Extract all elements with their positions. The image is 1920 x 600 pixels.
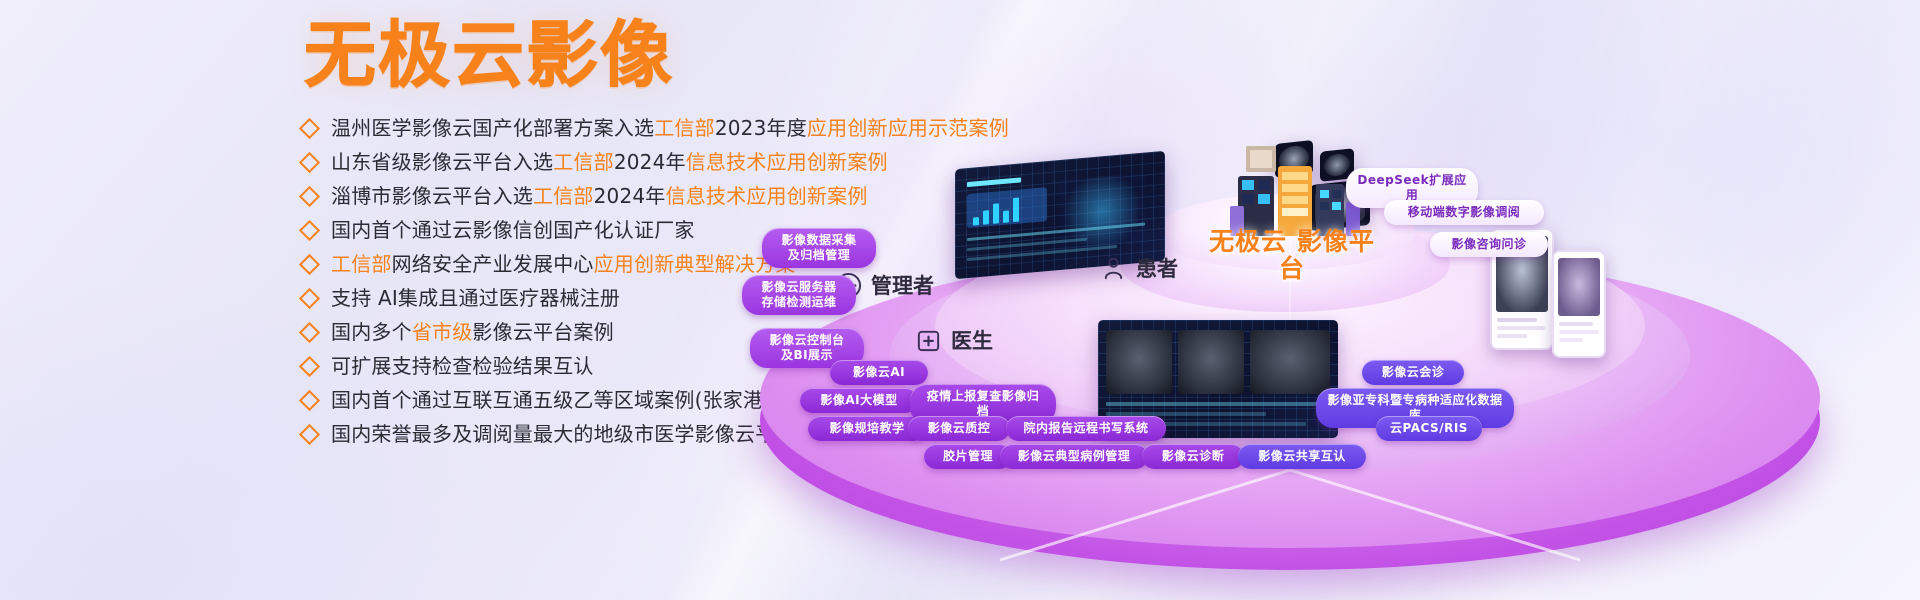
role-label: 管理者 [871,270,934,300]
pill-quality-control[interactable]: 影像云质控 [908,416,1010,441]
pill-data-capture[interactable]: 影像数据采集 及归档管理 [762,228,876,268]
platform-architecture-diagram: 管理者 医生 患者 无极云 影像平台 影像数据采集 及归档管理 影像云服务器 存… [700,120,1920,590]
diamond-bullet-icon [299,185,320,206]
pill-server-ops[interactable]: 影像云服务器 存储检测运维 [742,275,856,315]
diamond-bullet-icon [299,423,320,444]
promo-banner: 无极云影像 温州医学影像云国产化部署方案入选工信部2023年度应用创新应用示范案… [0,0,1920,600]
feature-bullet-text: 可扩展支持检查检验结果互认 [331,356,594,376]
feature-bullet-text: 国内多个省市级影像云平台案例 [331,322,614,342]
feature-bullet-text: 国内首个通过云影像信创国产化认证厂家 [331,220,695,240]
page-title: 无极云影像 [304,20,940,92]
pill-ai-large-model[interactable]: 影像AI大模型 [800,388,918,413]
feature-bullet-text: 支持 AI集成且通过医疗器械注册 [331,288,620,308]
pill-film-management[interactable]: 胶片管理 [924,444,1012,469]
role-label: 医生 [951,325,993,355]
pill-imaging-consult[interactable]: 影像咨询问诊 [1430,232,1548,257]
patient-report-phone [1552,250,1606,358]
doctor-badge-icon [915,327,942,354]
diamond-bullet-icon [299,151,320,172]
diamond-bullet-icon [299,355,320,376]
pill-cloud-pacs-ris[interactable]: 云PACS/RIS [1376,416,1482,441]
diamond-bullet-icon [299,219,320,240]
person-icon [1100,255,1127,282]
diamond-bullet-icon [299,321,320,342]
diamond-bullet-icon [299,253,320,274]
pill-cloud-consult[interactable]: 影像云会诊 [1362,360,1464,385]
pill-cloud-diagnosis[interactable]: 影像云诊断 [1142,444,1244,469]
pill-cloud-share[interactable]: 影像云共享互认 [1238,444,1366,469]
diamond-bullet-icon [299,287,320,308]
center-platform-label: 无极云 影像平台 [1197,228,1387,282]
diamond-bullet-icon [299,117,320,138]
pill-cloud-ai[interactable]: 影像云AI [830,360,928,385]
pill-remote-report[interactable]: 院内报告远程书写系统 [1006,416,1166,441]
diamond-bullet-icon [299,389,320,410]
role-label: 患者 [1136,253,1178,283]
pill-mobile-query[interactable]: 移动端数字影像调阅 [1384,200,1544,225]
role-marker-doctor: 医生 [915,325,993,355]
role-marker-patient: 患者 [1100,253,1178,283]
pill-typical-cases[interactable]: 影像云典型病例管理 [1000,444,1148,469]
